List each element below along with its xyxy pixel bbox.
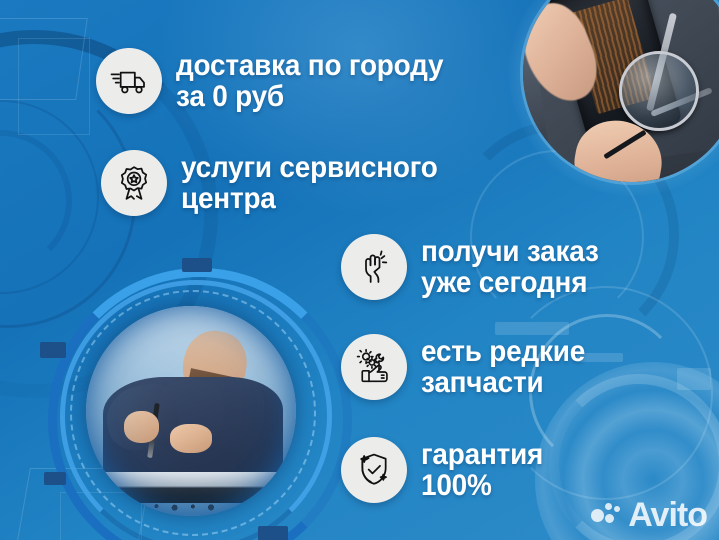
grid-decoration-top-left-2 [18,38,90,135]
feature-service-center-label: услуги сервисного центра [181,152,438,214]
delivery-truck-icon [96,48,162,114]
background-ring-third [0,100,99,294]
feature-rare-parts-label: есть редкие запчасти [421,336,585,398]
snapping-fingers-icon [341,234,407,300]
laptop-technician-photo [62,282,320,540]
feature-service-center: услуги сервисного центра [101,150,457,216]
avito-logo-icon [591,502,621,528]
avito-wordmark: Avito [628,498,707,532]
phone-repair-photo [523,0,719,182]
feature-same-day-label: получи заказ уже сегодня [421,236,599,298]
feature-warranty-label: гарантия 100% [421,439,543,501]
promo-banner: доставка по городу за 0 руб услуги серви… [0,0,719,540]
feature-rare-parts: есть редкие запчасти [341,334,597,400]
feature-same-day: получи заказ уже сегодня [341,234,612,300]
grid-decoration-top-left [0,18,88,100]
award-badge-icon [101,150,167,216]
feature-delivery: доставка по городу за 0 руб [96,48,463,114]
feature-warranty: гарантия 100% [341,437,552,503]
tech-bar-3 [677,368,711,390]
background-ring-inner [0,130,72,272]
hand-gears-wrench-icon [341,334,407,400]
avito-watermark: Avito [591,498,707,532]
shield-check-icon [341,437,407,503]
feature-delivery-label: доставка по городу за 0 руб [176,50,443,112]
